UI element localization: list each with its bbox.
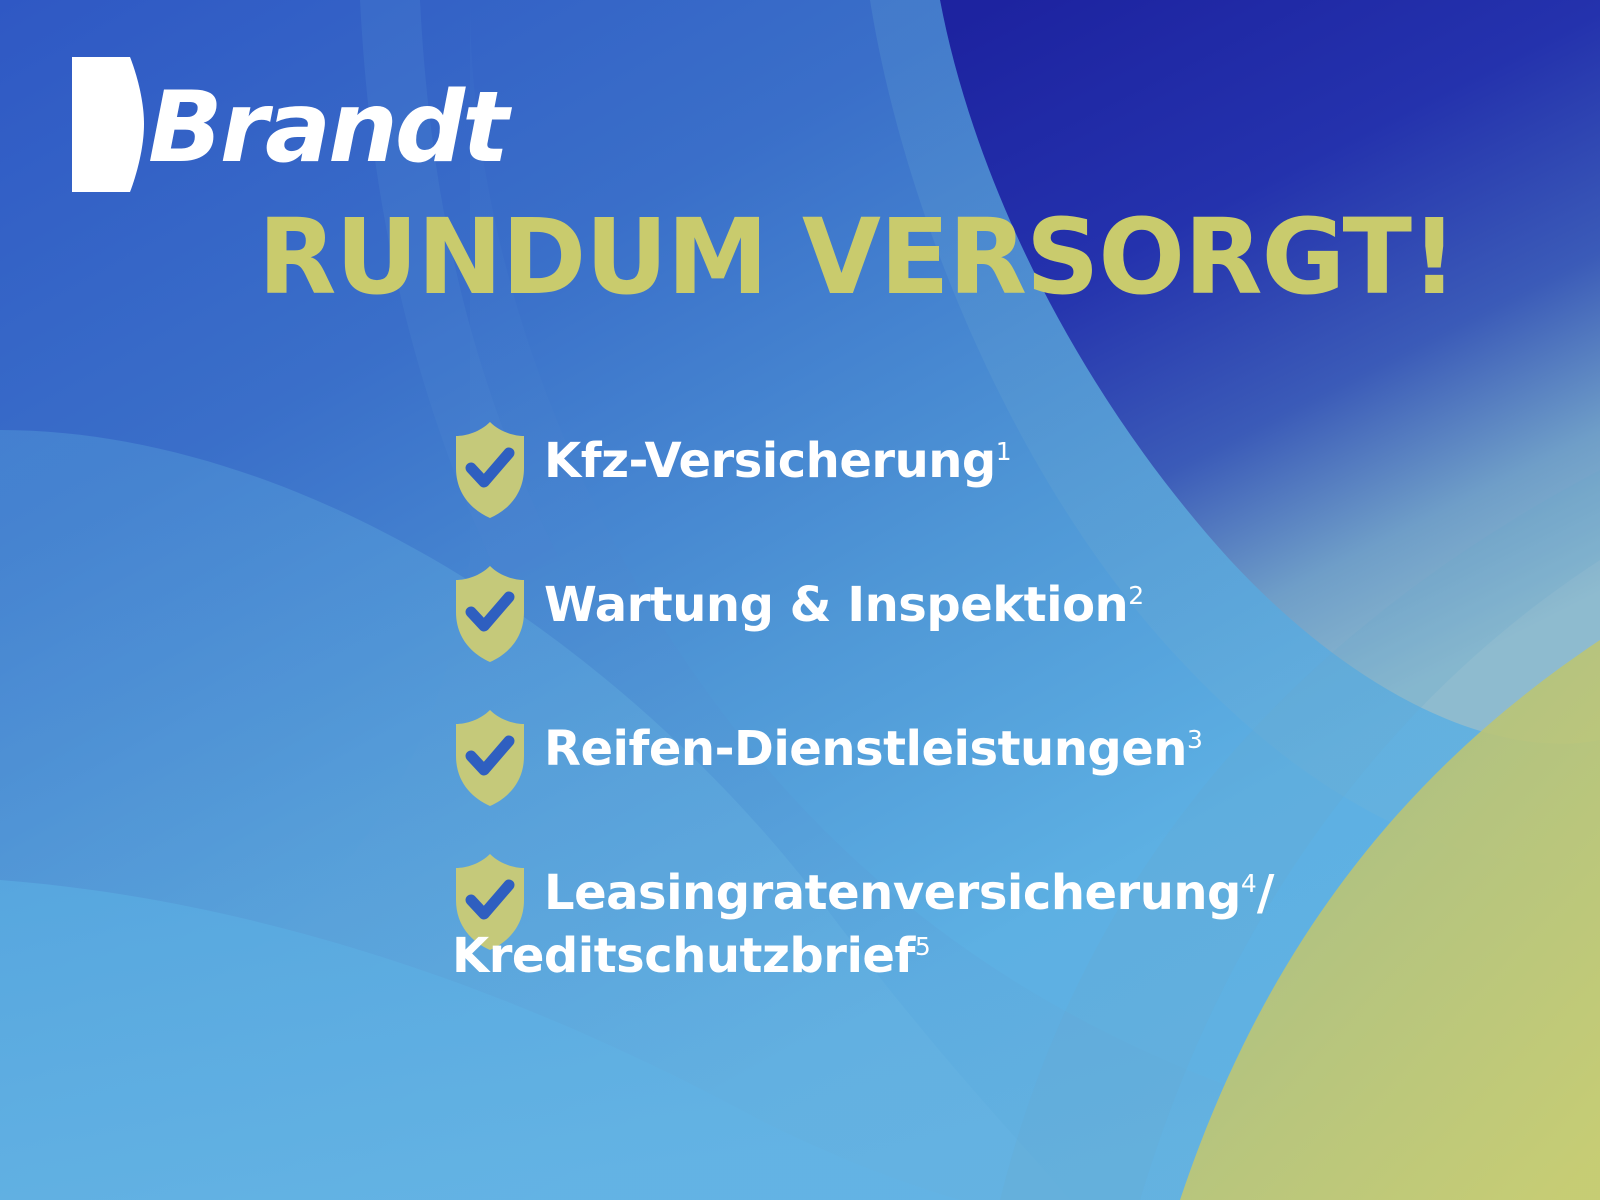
benefit-footnote: 4 — [1241, 869, 1257, 898]
benefit-label-text: Kfz-Versicherung — [544, 433, 996, 489]
brand-logo: Brandt — [72, 57, 506, 192]
list-item: Kfz-Versicherung1 — [452, 418, 1452, 520]
list-item: Leasingratenversicherung4/ Kreditschutzb… — [452, 850, 1452, 985]
benefit-label: Kfz-Versicherung1 — [544, 418, 1012, 491]
benefit-label-line2-wrapper: Kreditschutzbrief5 — [452, 927, 1274, 986]
shield-check-icon — [452, 420, 528, 520]
benefit-label-text-2: Kreditschutzbrief — [452, 928, 915, 984]
benefit-label: Wartung & Inspektion2 — [544, 562, 1144, 635]
promo-slide: Brandt RUNDUM VERSORGT! Kfz-Versicherung… — [0, 0, 1600, 1200]
benefit-footnote: 3 — [1187, 725, 1203, 754]
shield-check-icon — [452, 564, 528, 664]
benefit-label-text: Wartung & Inspektion — [544, 577, 1128, 633]
benefit-separator: / — [1257, 865, 1274, 921]
benefit-footnote-2: 5 — [915, 932, 931, 961]
benefit-label: Leasingratenversicherung4/ Kreditschutzb… — [544, 850, 1274, 985]
list-item: Wartung & Inspektion2 — [452, 562, 1452, 664]
list-item: Reifen-Dienstleistungen3 — [452, 706, 1452, 808]
benefits-list: Kfz-Versicherung1 Wartung & Inspektion2 … — [452, 418, 1452, 985]
page-title: RUNDUM VERSORGT! — [258, 205, 1457, 309]
brand-logo-text: Brandt — [148, 79, 506, 177]
benefit-footnote: 1 — [996, 437, 1012, 466]
benefit-footnote: 2 — [1128, 581, 1144, 610]
shield-check-icon — [452, 708, 528, 808]
benefit-label: Reifen-Dienstleistungen3 — [544, 706, 1203, 779]
brandt-crescent-mark-icon — [72, 57, 144, 192]
benefit-label-text: Leasingratenversicherung — [544, 865, 1241, 921]
benefit-label-text: Reifen-Dienstleistungen — [544, 721, 1187, 777]
